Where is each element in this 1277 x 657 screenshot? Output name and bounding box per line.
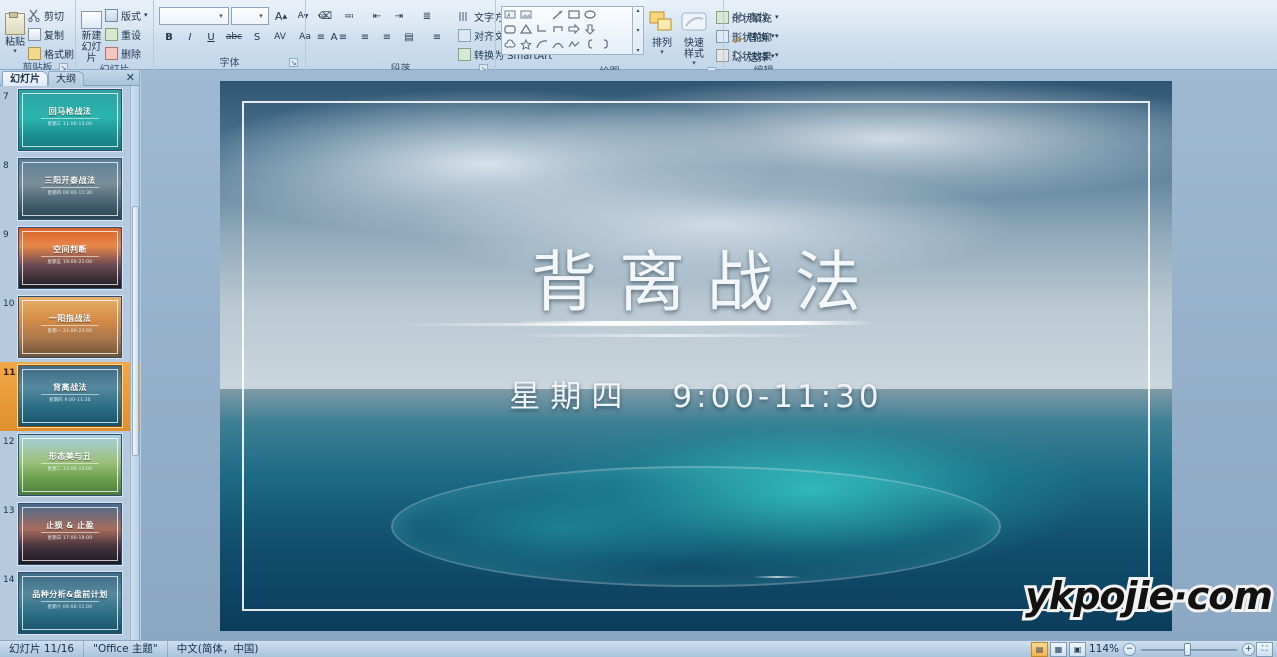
font-group-label-text: 字体 [220,58,240,69]
thumbnail-number: 8 [3,161,9,171]
thumbnail-preview[interactable]: 三阳开泰战法星期四 09:00-11:30 [18,158,122,220]
zoom-out-button[interactable]: − [1123,643,1136,656]
font-name-arrow[interactable]: ▾ [216,12,226,20]
scissors-icon [28,9,41,22]
paragraph-extra-icon: ≡ [433,32,441,43]
shape-textbox-icon[interactable]: A [503,8,517,21]
shape-rect-icon[interactable] [567,8,581,21]
thumbnail-subtitle: 星期五 19:00-21:00 [22,259,119,265]
ribbon-group-paragraph: ≔ ≕ ⇤ ⇥ ≣ ≡ ≡ ≡ ≡ ▤ ≡ [305,0,495,70]
arrange-button[interactable]: 排列 ▾ [649,8,675,55]
shape-elbow2-icon[interactable] [551,23,565,36]
format-painter-button[interactable]: 格式刷 [25,44,77,62]
thumbnail-number: 10 [3,299,14,309]
decrease-indent-icon: ⇤ [373,11,381,22]
shape-elbow-icon[interactable] [535,23,549,36]
watermark-text: ykpojie·com [1025,574,1272,618]
thumbnail-frame [22,507,118,561]
delete-icon [105,47,118,60]
slide-boat-trail [753,576,801,578]
pane-scrollbar[interactable] [130,86,139,640]
delete-label: 删除 [121,46,141,61]
shape-roundrect-icon[interactable] [503,23,517,36]
align-left-icon: ≡ [317,32,325,43]
thumbnail-list[interactable]: 7回马枪战法星期三 11:00-13:008三阳开泰战法星期四 09:00-11… [0,86,140,640]
layout-button[interactable]: 版式 ▾ [102,6,151,24]
thumbnail-frame [22,438,118,492]
slide-title-divider [520,321,872,325]
thumbnail-slide-13[interactable]: 13止损 & 止盈星期日 17:00-19:00 [0,500,140,569]
shapes-scroll-up-arrow[interactable]: ▴ [636,7,639,14]
replace-icon: ab [732,30,745,43]
thumbnail-subtitle: 星期三 11:00-13:00 [22,121,119,127]
font-dialog-launcher[interactable]: ↘ [289,58,298,67]
columns-button[interactable]: ▤ [399,28,419,46]
view-reading-icon: ▣ [1074,645,1082,654]
thumbnail-title: 止损 & 止盈 [19,520,121,531]
tab-outline-label: 大纲 [56,74,76,85]
smartart-icon [458,48,471,61]
align-center-button[interactable]: ≡ [333,28,353,46]
font-group-label: 字体 ↘ [159,57,300,70]
thumbnail-frame [22,162,118,216]
zoom-slider[interactable] [1141,642,1237,657]
text-shadow-label: S [254,32,260,43]
ribbon-group-clipboard: 粘贴 ▾ 剪切 复制 格式刷 [0,0,75,70]
thumbnail-preview[interactable]: 一阳指战法星期一 21:00-23:00 [18,296,122,358]
paragraph-extra-button[interactable]: ≡ [425,28,449,46]
increase-indent-icon: ⇥ [395,11,403,22]
thumbnail-number: 12 [3,437,14,447]
decrease-indent-button[interactable]: ⇤ [367,7,387,25]
new-slide-icon [81,11,102,29]
delete-slide-button[interactable]: 删除 [102,44,151,62]
justify-icon: ≡ [383,32,391,43]
shape-line-icon[interactable] [535,8,549,21]
thumbnail-number: 11 [3,368,16,378]
fit-to-window-button[interactable]: ⛶ [1256,642,1273,657]
reset-button[interactable]: 重设 [102,25,151,43]
copy-label: 复制 [44,27,64,42]
format-painter-label: 格式刷 [44,46,74,61]
ribbon-toolbar: 粘贴 ▾ 剪切 复制 格式刷 [0,0,1277,70]
slide-title[interactable]: 背离战法 [220,229,1172,325]
shape-brace-right-icon[interactable] [599,38,613,51]
bullets-icon: ≔ [318,11,328,22]
language-indicator[interactable]: 中文(简体，中国) [168,641,268,657]
shapes-more-icon[interactable] [615,38,629,51]
shapes-scroll-down-arrow[interactable]: ▾ [636,27,639,34]
quick-styles-icon [680,11,708,36]
thumbnail-preview[interactable]: 形态美与丑星期二 13:00-15:00 [18,434,122,496]
new-slide-label-2: 幻灯片 [81,42,102,64]
quick-styles-label: 快速样式 [680,38,708,60]
shapes-scroll-down-icon[interactable] [599,23,613,36]
replace-label: 替换 [748,29,768,44]
tab-outline[interactable]: 大纲 [48,71,84,86]
thumbnail-divider [41,325,99,326]
thumbnail-slide-14[interactable]: 14品种分析&盘前计划星期六 09:00-11:00 [0,569,140,638]
thumbnail-preview[interactable]: 回马枪战法星期三 11:00-13:00 [18,89,122,151]
ribbon-group-editing: 查找 ab 替换 ▾ 选择 ▾ 编辑 [723,0,803,70]
view-normal-icon: ▤ [1036,645,1044,654]
shape-right-arrow-icon[interactable] [567,23,581,36]
thumbnail-divider [41,601,99,602]
shape-arrow-icon[interactable] [551,8,565,21]
close-pane-icon[interactable]: ✕ [126,71,135,85]
thumbnail-subtitle: 星期二 13:00-15:00 [22,466,119,472]
thumbnail-frame [22,231,118,285]
view-sorter-icon: ▦ [1055,645,1063,654]
strikethrough-label: abc [226,32,242,42]
thumbnail-divider [41,394,99,395]
thumbnail-slide-11[interactable]: 11背离战法星期四 9:00-11:30 [0,362,140,431]
italic-label: I [189,32,192,43]
slides-pane: 幻灯片 大纲 ✕ 7回马枪战法星期三 11:00-13:008三阳开泰战法星期四… [0,70,140,640]
thumbnail-preview[interactable]: 品种分析&盘前计划星期六 09:00-11:00 [18,572,122,634]
thumbnail-subtitle: 星期四 09:00-11:30 [22,190,119,196]
grow-font-label: A [275,10,283,23]
svg-text:ab: ab [732,33,738,39]
thumbnail-slide-7[interactable]: 7回马枪战法星期三 11:00-13:00 [0,86,140,155]
paste-icon [5,13,25,35]
strikethrough-button[interactable]: abc [222,28,246,46]
replace-arrow[interactable]: ▾ [771,32,775,40]
thumbnail-slide-12[interactable]: 12形态美与丑星期二 13:00-15:00 [0,431,140,500]
align-center-icon: ≡ [339,32,347,43]
shape-arc-icon[interactable] [551,38,565,51]
zoom-slider-knob[interactable] [1184,643,1191,656]
numbering-icon: ≕ [344,11,354,22]
copy-icon [28,28,41,41]
ribbon-group-drawing: A [495,0,723,70]
shape-brace-left-icon[interactable] [583,38,597,51]
zoom-percentage[interactable]: 114% [1087,643,1123,655]
tab-slides[interactable]: 幻灯片 [2,71,48,86]
shapes-gallery[interactable]: A [501,6,633,55]
layout-label: 版式 [121,8,141,23]
font-size-combo[interactable]: ▾ [231,7,269,25]
layout-dropdown-arrow[interactable]: ▾ [144,11,148,19]
line-spacing-icon: ≣ [423,11,431,22]
find-label: 查找 [748,9,768,24]
thumbnail-subtitle: 星期六 09:00-11:00 [22,604,119,610]
slide-reef-shape [391,466,1000,587]
bold-button[interactable]: B [159,28,179,46]
font-name-combo[interactable]: ▾ [159,7,229,25]
shape-triangle-icon[interactable] [519,23,533,36]
replace-button[interactable]: ab 替换 ▾ [729,27,778,45]
view-slide-sorter-button[interactable]: ▦ [1050,642,1067,657]
view-reading-button[interactable]: ▣ [1069,642,1086,657]
ribbon-group-slides: 新建 幻灯片 版式 ▾ 重设 删除 幻灯片 [75,0,153,70]
thumbnail-preview[interactable]: 止损 & 止盈星期日 17:00-19:00 [18,503,122,565]
thumbnail-subtitle: 星期四 9:00-11:30 [22,397,119,403]
pane-scrollbar-thumb[interactable] [132,206,139,456]
line-spacing-button[interactable]: ≣ [415,7,439,25]
paste-dropdown-arrow: ▾ [5,48,25,54]
grow-font-button[interactable]: A▲ [271,7,291,25]
slide-wake-streak-2 [506,334,830,337]
shapes-scroll-up-icon[interactable] [599,8,613,21]
zoom-in-button[interactable]: + [1242,643,1255,656]
underline-label: U [207,32,214,43]
current-slide[interactable]: 背离战法 星期四9:00-11:30 [220,81,1172,631]
thumbnail-title: 品种分析&盘前计划 [19,589,121,600]
binoculars-icon [732,10,745,23]
text-shadow-button[interactable]: S [247,28,267,46]
shape-grid-pad-1 [615,8,629,21]
select-button[interactable]: 选择 ▾ [729,47,778,65]
cut-button[interactable]: 剪切 [25,6,77,24]
text-direction-icon [458,10,471,23]
quick-styles-button[interactable]: 快速样式 ▾ [680,8,708,66]
thumbnail-divider [41,532,99,533]
slide-subtitle-day: 星期四 [509,379,632,415]
view-normal-button[interactable]: ▤ [1031,642,1048,657]
select-label: 选择 [748,49,768,64]
thumbnail-frame [22,93,118,147]
zoom-out-icon: − [1126,644,1134,654]
align-text-icon [458,29,471,42]
thumbnail-slide-8[interactable]: 8三阳开泰战法星期四 09:00-11:30 [0,155,140,224]
paste-button[interactable]: 粘贴 ▾ [5,10,25,54]
thumbnail-frame [22,369,118,423]
reset-label: 重设 [121,27,141,42]
thumbnail-frame [22,576,118,630]
thumbnail-divider [41,187,99,188]
character-spacing-label: AV [274,32,286,42]
thumbnail-number: 13 [3,506,14,516]
shape-star-icon[interactable] [519,38,533,51]
thumbnail-divider [41,118,99,119]
slide-counter[interactable]: 幻灯片 11/16 [0,641,84,657]
justify-button[interactable]: ≡ [377,28,397,46]
shape-oval-icon[interactable] [583,8,597,21]
status-bar: 幻灯片 11/16 "Office 主题" 中文(简体，中国) ▤ ▦ ▣ 11… [0,640,1277,657]
bullets-button[interactable]: ≔ [311,7,335,25]
copy-button[interactable]: 复制 [25,25,77,43]
reset-icon [105,28,118,41]
shape-grid-pad-2 [615,23,629,36]
paintbrush-icon [28,47,41,60]
select-arrow[interactable]: ▾ [771,52,775,60]
tab-slides-label: 幻灯片 [10,74,40,85]
shapes-more-arrow[interactable]: ▾ [636,47,639,54]
thumbnail-subtitle: 星期日 17:00-19:00 [22,535,119,541]
thumbnail-subtitle: 星期一 21:00-23:00 [22,328,119,334]
theme-name[interactable]: "Office 主题" [84,641,168,657]
slide-subtitle-time: 9:00-11:30 [672,379,882,415]
increase-indent-button[interactable]: ⇥ [389,7,409,25]
fit-window-icon: ⛶ [1262,644,1268,654]
thumbnail-title: 一阳指战法 [19,313,121,324]
shape-picture-icon[interactable] [519,8,533,21]
bold-label: B [165,32,173,43]
thumbnail-title: 三阳开泰战法 [19,175,121,186]
shapes-gallery-scrollbar[interactable]: ▴ ▾ ▾ [633,6,644,55]
columns-icon: ▤ [404,32,413,43]
align-left-button[interactable]: ≡ [311,28,331,46]
shape-cloud-icon[interactable] [503,38,517,51]
shape-curve-icon[interactable] [535,38,549,51]
thumbnail-slide-9[interactable]: 9空间判断星期五 19:00-21:00 [0,224,140,293]
cursor-icon [732,50,745,63]
thumbnail-divider [41,463,99,464]
thumbnail-number: 14 [3,575,14,585]
thumbnail-title: 形态美与丑 [19,451,121,462]
slide-editing-area: 背离战法 星期四9:00-11:30 ykpojie·com [141,70,1277,640]
pane-tabstrip: 幻灯片 大纲 ✕ [0,70,139,86]
thumbnail-preview[interactable]: 空间判断星期五 19:00-21:00 [18,227,122,289]
layout-icon [105,9,118,22]
thumbnail-number: 7 [3,92,9,102]
cut-label: 剪切 [44,8,64,23]
align-right-button[interactable]: ≡ [355,28,375,46]
thumbnail-frame [22,300,118,354]
thumbnail-number: 9 [3,230,9,240]
numbering-button[interactable]: ≕ [337,7,361,25]
shape-down-arrow-icon[interactable] [583,23,597,36]
new-slide-button[interactable]: 新建 幻灯片 [81,8,102,64]
italic-button[interactable]: I [180,28,200,46]
new-slide-label-1: 新建 [81,31,102,42]
ribbon-group-font: ▾ ▾ A▲ A▼ ⌫ B I U abc S AV Aa A [153,0,305,70]
slide-subtitle[interactable]: 星期四9:00-11:30 [220,371,1172,416]
shape-freeform-icon[interactable] [567,38,581,51]
thumbnail-preview[interactable]: 背离战法星期四 9:00-11:30 [18,365,122,427]
arrange-icon [649,11,675,36]
align-right-icon: ≡ [361,32,369,43]
svg-text:A: A [506,13,511,19]
thumbnail-title: 背离战法 [19,382,121,393]
font-size-arrow[interactable]: ▾ [256,12,266,20]
thumbnail-title: 空间判断 [19,244,121,255]
arrange-dropdown-arrow[interactable]: ▾ [649,49,675,55]
thumbnail-slide-10[interactable]: 10一阳指战法星期一 21:00-23:00 [0,293,140,362]
thumbnail-divider [41,256,99,257]
zoom-in-icon: + [1245,644,1253,654]
find-button[interactable]: 查找 [729,7,778,25]
thumbnail-title: 回马枪战法 [19,106,121,117]
character-spacing-button[interactable]: AV [268,28,292,46]
underline-button[interactable]: U [201,28,221,46]
